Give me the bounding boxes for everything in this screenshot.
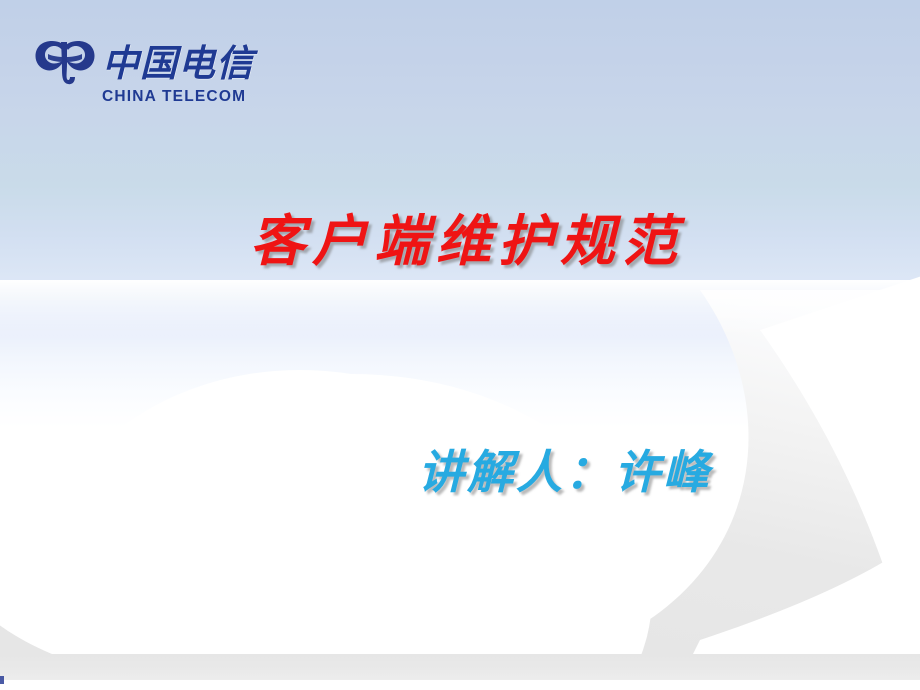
slide-title: 客户端维护规范 [0,205,920,277]
bottom-left-corner-mark [0,676,4,684]
bottom-white-strip [0,680,920,690]
logo-chinese-name: 中国电信 [102,42,254,86]
presentation-slide: 中国电信 CHINA TELECOM 客户端维护规范 讲解人：许峰 [0,0,920,690]
bottom-gray-band [0,654,920,680]
china-telecom-logo: 中国电信 CHINA TELECOM [34,36,262,106]
logo-english-name: CHINA TELECOM [102,88,262,106]
logo-primary-row: 中国电信 [34,36,262,92]
china-telecom-butterfly-logo-icon [34,36,96,92]
slide-presenter: 讲解人：许峰 [418,440,712,504]
